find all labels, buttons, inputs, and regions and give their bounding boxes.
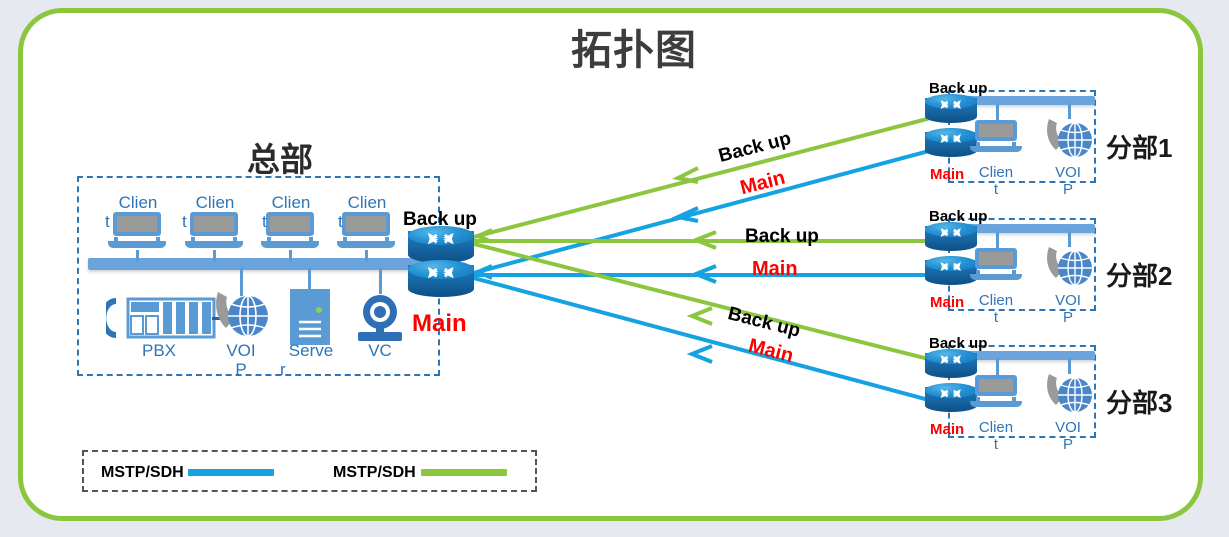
link-label-backup-branch-2: Back up	[745, 226, 819, 248]
branch-1-voip-label2: P	[1040, 181, 1096, 198]
branch-3-client-label: Clien	[968, 419, 1024, 436]
branch-3-voip-label2: P	[1040, 436, 1096, 453]
hq-client-4-label2: t	[338, 212, 368, 231]
branch-3-client-label2: t	[968, 436, 1024, 453]
laptop-screen-icon	[975, 375, 1017, 396]
voip-icon[interactable]	[208, 288, 270, 346]
router-arrows-icon	[932, 225, 969, 240]
branch-2-router-main[interactable]	[925, 256, 977, 289]
router-arrows-icon	[932, 386, 969, 401]
router-arrows-icon	[932, 131, 969, 146]
voip-label2: P	[212, 360, 270, 379]
voip-droplink	[240, 268, 243, 296]
router-arrows-icon	[932, 97, 969, 112]
router-arrows-icon	[932, 352, 969, 367]
server-label: Serve	[280, 341, 342, 360]
link-label-main-branch-2: Main	[752, 258, 798, 281]
branch-3-voip-icon[interactable]	[1040, 371, 1094, 419]
hq-router-main-label: Main	[412, 310, 467, 338]
branch-1-router-main-label: Main	[930, 166, 964, 183]
branch-1-router-backup[interactable]	[925, 94, 977, 127]
router-arrows-icon	[932, 259, 969, 274]
arrowhead-branch-2-main	[694, 266, 734, 306]
branch-2-router-main-label: Main	[930, 294, 964, 311]
branch-2-router-backup[interactable]	[925, 222, 977, 255]
branch-3-title: 分部3	[1106, 383, 1172, 420]
hq-client-2-droplink	[213, 250, 216, 262]
hq-client-3-label: Clien	[258, 193, 324, 212]
hq-client-4-label: Clien	[334, 193, 400, 212]
branch-3-client-droplink	[996, 358, 999, 375]
pbx-label: PBX	[124, 341, 194, 360]
hq-client-3-label2: t	[262, 212, 292, 231]
hq-client-3-droplink	[289, 250, 292, 262]
hq-client-1-droplink	[136, 250, 139, 262]
branch-2-client-label: Clien	[968, 292, 1024, 309]
hq-client-2-label: Clien	[182, 193, 248, 212]
legend: MSTP/SDH MSTP/SDH	[82, 450, 537, 492]
branch-2-title: 分部2	[1106, 256, 1172, 293]
router-arrows-icon	[417, 229, 465, 248]
legend-item-2-label: MSTP/SDH	[333, 464, 416, 482]
hq-router-main[interactable]	[408, 260, 474, 302]
vc-camera-icon[interactable]	[352, 292, 408, 344]
branch-1-voip-label: VOI	[1040, 164, 1096, 181]
branch-2-client-label2: t	[968, 309, 1024, 326]
router-arrows-icon	[417, 263, 465, 282]
legend-item-1-swatch	[188, 469, 274, 476]
branch-1-client-label: Clien	[968, 164, 1024, 181]
branch-3-client[interactable]	[975, 375, 1019, 409]
branch-1-voip-icon[interactable]	[1040, 116, 1094, 164]
vc-label: VC	[352, 341, 408, 360]
branch-1-title: 分部1	[1106, 128, 1172, 165]
hq-client-4-droplink	[365, 250, 368, 262]
pbx-icon[interactable]	[106, 295, 216, 341]
branch-1-client[interactable]	[975, 120, 1019, 154]
legend-item-2-swatch	[421, 469, 507, 476]
laptop-screen-icon	[975, 248, 1017, 269]
vc-droplink	[379, 268, 382, 294]
branch-1-client-droplink	[996, 103, 999, 120]
server-droplink	[308, 268, 311, 290]
branch-2-voip-label: VOI	[1040, 292, 1096, 309]
link-arrowheads	[476, 222, 706, 332]
arrowhead-branch-3	[690, 306, 730, 346]
arrowhead-branch-3-main	[690, 344, 730, 384]
branch-1-client-label2: t	[968, 181, 1024, 198]
branch-1-router-main[interactable]	[925, 128, 977, 161]
server-icon[interactable]	[289, 288, 331, 346]
branch-3-voip-label: VOI	[1040, 419, 1096, 436]
branch-2-client-droplink	[996, 231, 999, 248]
branch-2-client[interactable]	[975, 248, 1019, 282]
laptop-screen-icon	[975, 120, 1017, 141]
headquarters-title: 总部	[180, 133, 380, 181]
topology-diagram: 拓扑图 Back up Main Back up Main Back up Ma…	[0, 0, 1229, 537]
branch-3-router-backup[interactable]	[925, 349, 977, 382]
hq-client-1-label: Clien	[105, 193, 171, 212]
hq-client-2-label2: t	[182, 212, 212, 231]
branch-2-voip-icon[interactable]	[1040, 244, 1094, 292]
voip-label: VOI	[212, 341, 270, 360]
branch-2-voip-label2: P	[1040, 309, 1096, 326]
legend-item-1-label: MSTP/SDH	[101, 464, 184, 482]
branch-3-router-main[interactable]	[925, 383, 977, 416]
branch-3-router-main-label: Main	[930, 421, 964, 438]
arrowhead-branch-1	[676, 168, 716, 208]
page-title: 拓扑图	[524, 16, 744, 76]
server-label2: r	[280, 360, 300, 379]
hq-client-1-label2: t	[105, 212, 135, 231]
